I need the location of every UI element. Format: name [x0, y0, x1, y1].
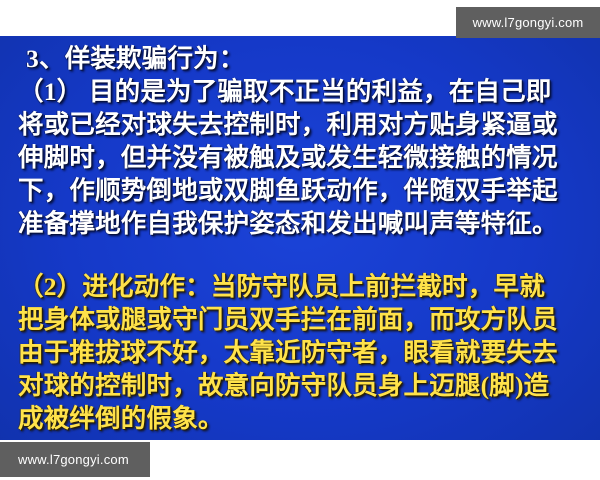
paragraph-one-line-3: 伸脚时，但并没有被触及或发生轻微接触的情况 — [12, 141, 590, 174]
paragraph-two-line-5: 成被绊倒的假象。 — [12, 402, 590, 435]
paragraph-two-line-3: 由于推拔球不好，太靠近防守者，眼看就要失去 — [12, 336, 590, 369]
paragraph-two-line-1: （2）进化动作：当防守队员上前拦截时，早就 — [12, 270, 590, 303]
paragraph-one: （1） 目的是为了骗取不正当的利益，在自己即 将或已经对球失去控制时，利用对方贴… — [12, 75, 590, 240]
watermark-bottom-left: www.l7gongyi.com — [0, 442, 150, 477]
paragraph-spacer — [12, 240, 590, 270]
paragraph-one-line-4: 下，作顺势倒地或双脚鱼跃动作，伴随双手举起 — [12, 174, 590, 207]
watermark-top-right: www.l7gongyi.com — [456, 7, 600, 38]
paragraph-two-line-2: 把身体或腿或守门员双手拦在前面，而攻方队员 — [12, 303, 590, 336]
slide-text-body: 3、佯装欺骗行为： （1） 目的是为了骗取不正当的利益，在自己即 将或已经对球失… — [0, 36, 600, 435]
paragraph-one-line-1: （1） 目的是为了骗取不正当的利益，在自己即 — [12, 75, 590, 108]
slide-page: 3、佯装欺骗行为： （1） 目的是为了骗取不正当的利益，在自己即 将或已经对球失… — [0, 0, 600, 480]
paragraph-one-line-2: 将或已经对球失去控制时，利用对方贴身紧逼或 — [12, 108, 590, 141]
slide-canvas: 3、佯装欺骗行为： （1） 目的是为了骗取不正当的利益，在自己即 将或已经对球失… — [0, 36, 600, 440]
paragraph-two: （2）进化动作：当防守队员上前拦截时，早就 把身体或腿或守门员双手拦在前面，而攻… — [12, 270, 590, 435]
paragraph-two-line-4: 对球的控制时，故意向防守队员身上迈腿(脚)造 — [12, 369, 590, 402]
slide-heading: 3、佯装欺骗行为： — [12, 42, 590, 75]
paragraph-one-line-5: 准备撑地作自我保护姿态和发出喊叫声等特征。 — [12, 207, 590, 240]
